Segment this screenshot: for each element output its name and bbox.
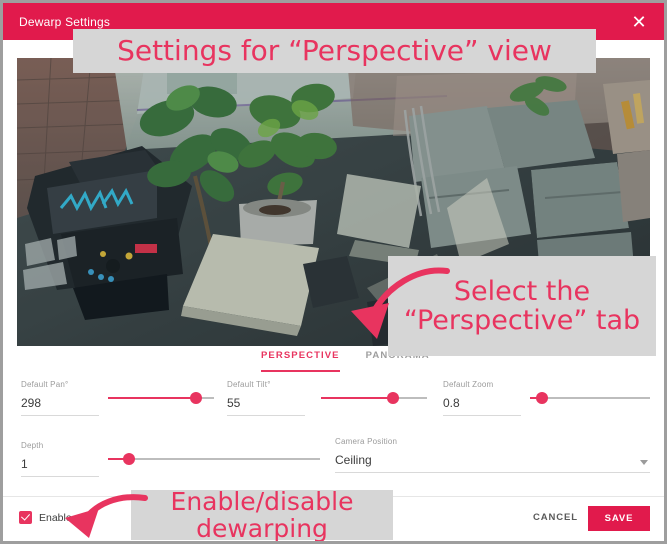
cancel-button[interactable]: CANCEL [533, 512, 578, 523]
slider-fill [321, 397, 393, 399]
default-tilt-slider[interactable] [321, 391, 427, 405]
dewarp-settings-dialog: Dewarp Settings ✕ [0, 0, 667, 544]
default-zoom-field: Default Zoom 0.8 [443, 380, 521, 416]
default-zoom-label: Default Zoom [443, 380, 521, 389]
default-pan-value[interactable]: 298 [21, 389, 99, 416]
depth-field: Depth 1 [21, 441, 99, 477]
annotation-enable-callout: Enable/disable dewarping [131, 490, 393, 540]
default-tilt-value[interactable]: 55 [227, 389, 305, 416]
slider-track [530, 397, 650, 399]
slider-thumb[interactable] [123, 453, 135, 465]
enable-label: Enable [39, 512, 72, 524]
tab-perspective[interactable]: PERSPECTIVE [261, 350, 340, 372]
annotation-top-callout: Settings for “Perspective” view [73, 29, 596, 73]
save-button[interactable]: SAVE [588, 506, 650, 531]
depth-value[interactable]: 1 [21, 450, 99, 477]
annotation-tab-callout: Select the “Perspective” tab [388, 256, 656, 356]
dialog-title: Dewarp Settings [19, 15, 110, 29]
enable-checkbox[interactable]: Enable [19, 511, 72, 524]
default-zoom-value[interactable]: 0.8 [443, 389, 521, 416]
slider-fill [108, 397, 196, 399]
camera-position-field: Camera Position [335, 437, 397, 446]
close-icon[interactable]: ✕ [628, 11, 650, 33]
default-pan-slider[interactable] [108, 391, 214, 405]
slider-track [108, 458, 320, 460]
depth-slider[interactable] [108, 452, 320, 466]
checkmark-icon [19, 511, 32, 524]
depth-label: Depth [21, 441, 99, 450]
camera-position-value: Ceiling [335, 447, 650, 472]
slider-thumb[interactable] [190, 392, 202, 404]
default-zoom-slider[interactable] [530, 391, 650, 405]
default-tilt-label: Default Tilt° [227, 380, 305, 389]
default-pan-label: Default Pan° [21, 380, 99, 389]
camera-position-select[interactable]: Ceiling [335, 447, 650, 473]
slider-thumb[interactable] [536, 392, 548, 404]
slider-thumb[interactable] [387, 392, 399, 404]
default-tilt-field: Default Tilt° 55 [227, 380, 305, 416]
camera-position-label: Camera Position [335, 437, 397, 446]
default-pan-field: Default Pan° 298 [21, 380, 99, 416]
chevron-down-icon[interactable] [640, 460, 648, 465]
